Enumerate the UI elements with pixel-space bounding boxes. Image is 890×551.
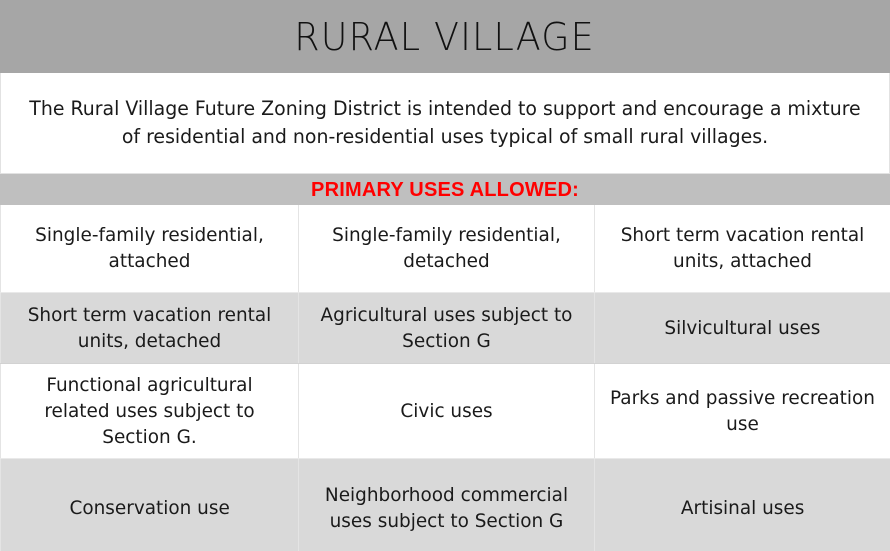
district-title-band: RURAL VILLAGE xyxy=(0,0,890,73)
cell-text: Functional agricultural related uses sub… xyxy=(13,372,286,450)
table-cell: Parks and passive recreation use xyxy=(595,363,890,458)
table-cell: Agricultural uses subject to Section G xyxy=(299,292,595,363)
table-cell: Short term vacation rental units, detach… xyxy=(1,292,299,363)
cell-text: Parks and passive recreation use xyxy=(607,385,878,437)
page-title: RURAL VILLAGE xyxy=(295,18,596,56)
cell-text: Agricultural uses subject to Section G xyxy=(311,302,582,354)
table-cell: Neighborhood commercial uses subject to … xyxy=(299,458,595,551)
cell-text: Neighborhood commercial uses subject to … xyxy=(311,482,582,534)
district-description-row: The Rural Village Future Zoning District… xyxy=(0,73,890,174)
primary-uses-section-label: PRIMARY USES ALLOWED: xyxy=(311,180,579,200)
cell-text: Silvicultural uses xyxy=(665,315,821,341)
table-cell: Short term vacation rental units, attach… xyxy=(595,205,890,292)
primary-uses-section-band: PRIMARY USES ALLOWED: xyxy=(0,174,890,205)
table-row: Conservation use Neighborhood commercial… xyxy=(1,458,890,551)
table-cell: Civic uses xyxy=(299,363,595,458)
cell-text: Artisinal uses xyxy=(681,495,804,521)
table-cell: Single-family residential, attached xyxy=(1,205,299,292)
table-row: Functional agricultural related uses sub… xyxy=(1,363,890,458)
table-row: Short term vacation rental units, detach… xyxy=(1,292,890,363)
table-cell: Single-family residential, detached xyxy=(299,205,595,292)
cell-text: Civic uses xyxy=(400,398,492,424)
table-cell: Conservation use xyxy=(1,458,299,551)
cell-text: Short term vacation rental units, attach… xyxy=(607,222,878,274)
table-cell: Artisinal uses xyxy=(595,458,890,551)
primary-uses-table: Single-family residential, attached Sing… xyxy=(0,205,890,551)
zoning-district-sheet: RURAL VILLAGE The Rural Village Future Z… xyxy=(0,0,890,551)
cell-text: Short term vacation rental units, detach… xyxy=(13,302,286,354)
cell-text: Single-family residential, attached xyxy=(13,222,286,274)
table-row: Single-family residential, attached Sing… xyxy=(1,205,890,292)
district-description-text: The Rural Village Future Zoning District… xyxy=(24,95,866,151)
cell-text: Single-family residential, detached xyxy=(311,222,582,274)
table-cell: Silvicultural uses xyxy=(595,292,890,363)
table-cell: Functional agricultural related uses sub… xyxy=(1,363,299,458)
cell-text: Conservation use xyxy=(69,495,229,521)
